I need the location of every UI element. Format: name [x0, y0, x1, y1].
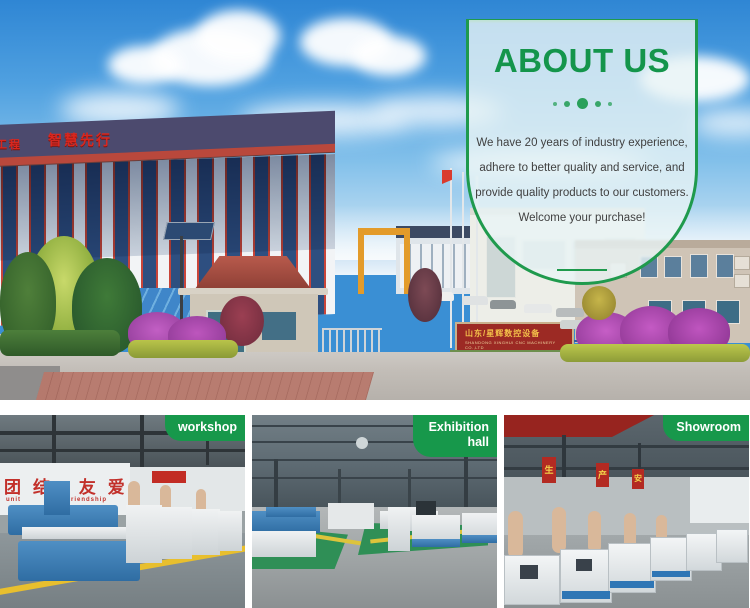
- cnc-machine: [504, 555, 560, 605]
- about-card-content: ABOUT US We have 20 years of industry ex…: [469, 20, 695, 282]
- gallery-item-exhibition-hall[interactable]: Exhibition hall: [252, 415, 497, 608]
- dot-small-left-icon: [553, 102, 557, 106]
- cnc-router-bed: [18, 541, 140, 581]
- office-window: [716, 254, 734, 278]
- company-sign-cn: 山东/星辉数控设备: [465, 328, 540, 339]
- machine-cabinet: [126, 505, 162, 563]
- machine-gantry: [22, 527, 140, 539]
- monitor-icon: [416, 501, 436, 515]
- machine-base: [562, 591, 610, 599]
- tree-icon: [582, 286, 616, 320]
- cnc-machine: [716, 529, 748, 563]
- about-line: We have 20 years of industry experience,: [474, 131, 690, 156]
- machine-cabinet: [218, 511, 242, 551]
- gallery-badge-showroom: Showroom: [663, 415, 749, 441]
- machine-cabinet: [160, 507, 192, 559]
- dot-medium-left-icon: [564, 101, 570, 107]
- banner-text: 产: [598, 470, 607, 480]
- roof-beam: [504, 467, 749, 470]
- page-title: ABOUT US: [469, 20, 695, 77]
- parked-car: [524, 304, 552, 313]
- machine-cabinet: [192, 509, 220, 555]
- badge-label: workshop: [178, 420, 237, 434]
- badge-label-line2: hall: [467, 435, 489, 449]
- gallery-strip: 团结 友爱 unit friendship workshop: [0, 415, 750, 608]
- about-us-section: 工程 智慧先行 山东: [0, 0, 750, 608]
- cloud-icon: [196, 10, 280, 62]
- hanging-banner: 安: [632, 469, 644, 489]
- hanging-banner: 生: [542, 457, 556, 483]
- control-cabinet: [388, 507, 410, 551]
- roof-rib: [252, 459, 497, 461]
- about-line: adhere to better quality and service, an…: [474, 156, 690, 181]
- hedge-row: [0, 330, 120, 356]
- air-conditioner-unit: [734, 256, 750, 270]
- brick-walkway: [36, 372, 374, 400]
- roof-rib: [252, 477, 497, 479]
- air-conditioner-unit: [734, 274, 750, 288]
- building-sign-left: 工程: [0, 136, 22, 152]
- machine-base: [652, 571, 690, 577]
- cloud-icon: [352, 36, 426, 76]
- wall-text-en-right: friendship: [68, 497, 107, 503]
- dust-extraction-duct: [588, 511, 601, 553]
- hedge-row: [128, 340, 238, 358]
- about-description: We have 20 years of industry experience,…: [469, 109, 695, 231]
- gantry-leg: [358, 233, 364, 294]
- parked-car: [490, 300, 516, 309]
- about-line: provide quality products to our customer…: [474, 181, 690, 206]
- control-screen-icon: [576, 559, 592, 571]
- hanging-banner: 产: [596, 463, 609, 487]
- cloud-icon: [108, 46, 182, 84]
- wall-text-cn: 团结 友爱: [4, 473, 137, 498]
- white-partition-wall: [328, 503, 374, 529]
- tree-icon: [220, 296, 264, 346]
- hedge-row: [560, 344, 750, 362]
- roof-column: [140, 415, 144, 467]
- gantry-beam: [358, 228, 410, 235]
- red-banner: [152, 471, 186, 483]
- hero-factory-photo: 工程 智慧先行 山东: [0, 0, 750, 400]
- cnc-machine: [266, 507, 316, 517]
- roof-beam: [504, 445, 749, 448]
- control-screen-icon: [520, 565, 538, 579]
- gatehouse-window: [262, 312, 296, 340]
- solar-panel: [163, 222, 215, 240]
- cnc-machine: [252, 531, 316, 557]
- parked-car: [556, 308, 584, 317]
- machine-base: [610, 581, 654, 588]
- title-underline: [557, 269, 607, 271]
- retractable-gate-fence: [322, 328, 382, 354]
- gallery-badge-workshop: workshop: [165, 415, 245, 441]
- company-sign-en: SHANDONG XINGHUI CNC MACHINERY CO.,LTD: [465, 340, 572, 350]
- dust-extraction-duct: [552, 507, 566, 553]
- building-sign-main: 智慧先行: [48, 130, 112, 150]
- machine-base: [462, 535, 497, 543]
- machine-base: [412, 539, 460, 547]
- dot-medium-right-icon: [595, 101, 601, 107]
- parked-car: [462, 296, 488, 305]
- dot-decoration: [469, 98, 695, 109]
- badge-label: Showroom: [676, 420, 741, 434]
- dot-large-center-icon: [577, 98, 588, 109]
- dust-extraction-duct: [508, 511, 523, 559]
- badge-label-line1: Exhibition: [429, 420, 489, 434]
- window-light: [690, 477, 749, 523]
- wall-text-en-left: unit: [6, 497, 21, 503]
- gallery-item-workshop[interactable]: 团结 友爱 unit friendship workshop: [0, 415, 245, 608]
- flag-pole: [450, 168, 452, 348]
- banner-text: 安: [634, 474, 642, 483]
- gallery-badge-exhibition-hall: Exhibition hall: [413, 415, 497, 457]
- tree-icon: [408, 268, 442, 322]
- ceiling-lamp-icon: [356, 437, 368, 449]
- banner-text: 生: [544, 465, 553, 475]
- gantry-crane: [358, 228, 410, 294]
- machine-head: [44, 481, 70, 515]
- about-us-card: ABOUT US We have 20 years of industry ex…: [466, 20, 698, 285]
- about-line: Welcome your purchase!: [474, 206, 690, 231]
- gallery-item-showroom[interactable]: 生 产 安 Showr: [504, 415, 749, 608]
- dot-small-right-icon: [608, 102, 612, 106]
